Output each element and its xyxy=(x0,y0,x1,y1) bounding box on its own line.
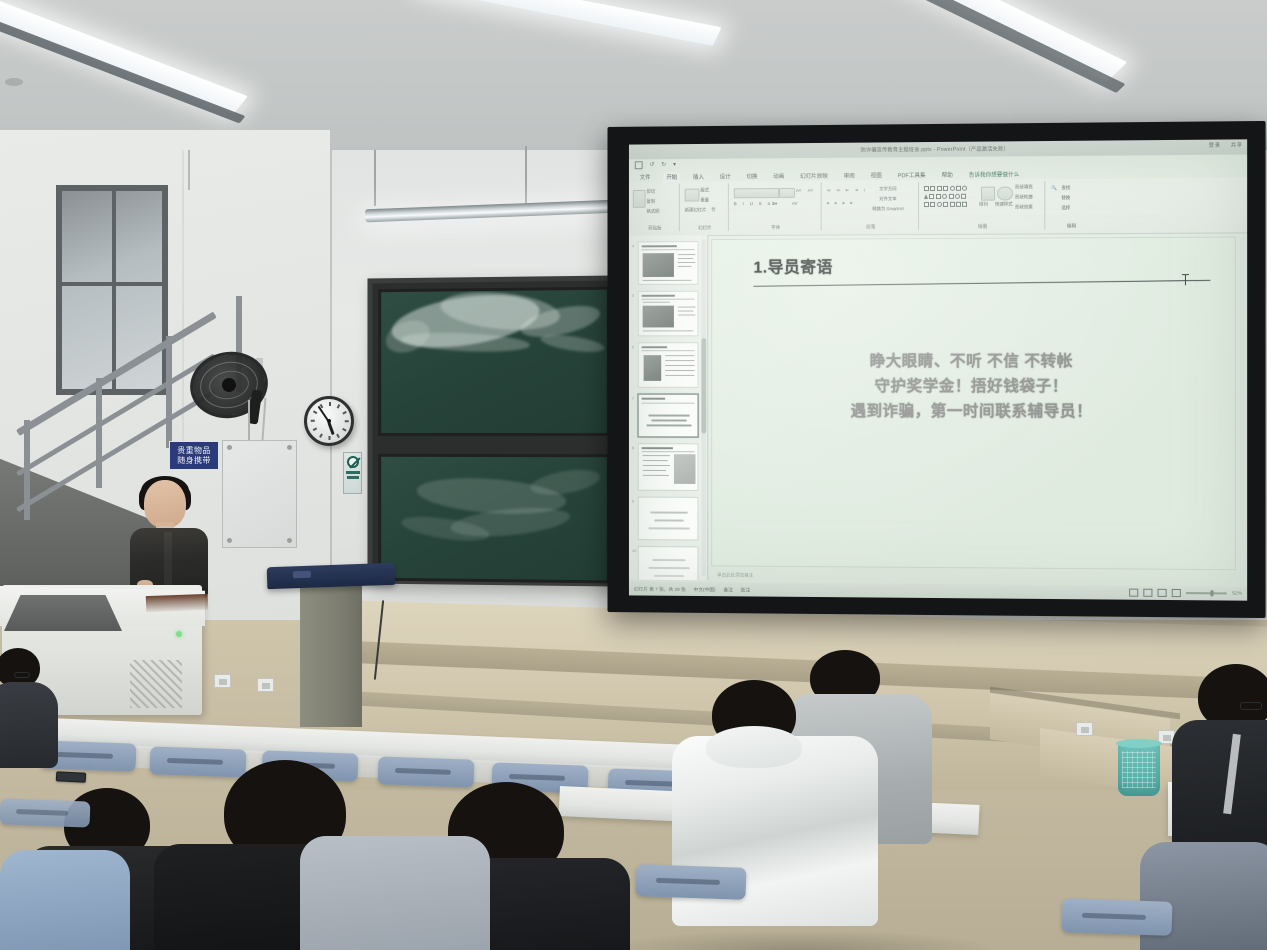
cut-label[interactable]: 剪切 xyxy=(647,189,656,195)
replace-text[interactable]: 替换 xyxy=(1061,195,1070,201)
notes-placeholder[interactable]: 单击此处添加备注 xyxy=(717,572,753,578)
no-smoking-sign xyxy=(343,452,362,494)
wall-outlet xyxy=(1076,722,1093,736)
wall-seam xyxy=(182,150,184,450)
thumbnail-number: 4 xyxy=(632,243,634,248)
undo-icon[interactable]: ↺ xyxy=(649,161,654,168)
valuables-sign: 贵重物品 随身携带 xyxy=(169,441,219,470)
tab-file[interactable]: 文件 xyxy=(637,172,654,182)
ribbon-group-drawing: 排列 快速样式 形状填充 形状轮廓 形状效果 绘图 xyxy=(921,181,1045,230)
customize-icon[interactable]: ▾ xyxy=(673,161,676,168)
slideshow-icon[interactable] xyxy=(1172,589,1181,597)
tab-view[interactable]: 视图 xyxy=(868,170,885,180)
new-slide-label[interactable]: 新建幻灯片 xyxy=(685,207,707,213)
wastebasket xyxy=(1118,742,1160,796)
thumbnail-number: 5 xyxy=(632,293,634,298)
railing-post xyxy=(166,336,172,448)
find-text[interactable]: 查找 xyxy=(1061,185,1070,191)
shape-gallery-row[interactable] xyxy=(924,186,967,191)
chalkboard-lower-panel xyxy=(378,454,610,584)
green-chalkboard xyxy=(367,276,614,587)
thumbnail-number: 7 xyxy=(632,396,634,401)
ribbon-group-label: 编辑 xyxy=(1047,223,1095,229)
slide-line-1: 睁大眼睛、不听 不信 不转帐 xyxy=(712,349,1235,374)
valuables-sign-line2: 随身携带 xyxy=(177,456,211,465)
format-painter-label[interactable]: 格式刷 xyxy=(647,209,660,215)
slide-canvas[interactable]: 1.导员寄语 睁大眼睛、不听 不信 不转帐 守护奖学金！捂好钱袋子！ 遇到诈骗，… xyxy=(711,237,1236,571)
thumbnail-number: 6 xyxy=(632,344,634,349)
tab-home[interactable]: 开始 xyxy=(663,172,680,182)
power-led-icon xyxy=(176,631,182,637)
ribbon-group-clipboard: 剪切 复制 格式刷 剪贴板 xyxy=(631,184,680,232)
jacket-hood xyxy=(706,726,802,768)
wall-outlet xyxy=(214,674,231,688)
student xyxy=(300,836,470,950)
list-item[interactable]: 4 xyxy=(638,241,699,285)
find-label[interactable]: 🔍 xyxy=(1051,185,1057,191)
pendant-rod xyxy=(374,150,376,206)
slide-thumbnail-panel[interactable]: 4 5 xyxy=(629,235,708,580)
font-color-icon[interactable]: A▾ xyxy=(772,201,777,207)
console-wood-trim xyxy=(146,594,209,612)
clock-hour-hand xyxy=(328,422,335,435)
ribbon-group-paragraph: ≔ ≕ ⇤ ⇥ ↕ 文字方向 对齐文本 转换为 SmartArt ≡ ≡ ≡ ≡… xyxy=(824,182,919,230)
tell-me-box[interactable]: 告诉我你想要做什么 xyxy=(966,169,1023,179)
tab-insert[interactable]: 插入 xyxy=(690,172,707,182)
valuables-sign-line1: 贵重物品 xyxy=(177,446,211,455)
slide-scrollbar-track[interactable] xyxy=(1240,236,1245,580)
projected-powerpoint[interactable]: 防诈骗宣传教育主题班会.pptx - PowerPoint（产品激活失败） 登录… xyxy=(629,139,1247,600)
ribbon-group-font: A˄ A˅ B I U S ab A▾ AV 字体 xyxy=(731,183,822,231)
align-text-label[interactable]: 对齐文本 xyxy=(879,196,896,202)
no-smoking-icon xyxy=(347,456,359,468)
chair-back xyxy=(1061,898,1172,936)
ribbon[interactable]: 剪切 复制 格式刷 剪贴板 版式 重置 新建幻灯片 节 幻灯片 xyxy=(629,178,1247,237)
list-item[interactable]: 5 xyxy=(638,291,699,337)
console-vent xyxy=(130,660,182,708)
eyeglasses-icon xyxy=(1240,702,1262,710)
tab-design[interactable]: 设计 xyxy=(717,171,734,181)
quick-styles-icon[interactable] xyxy=(997,186,1013,200)
fluorescent-tube-light xyxy=(418,0,721,46)
app-title-text: 防诈骗宣传教育主题班会.pptx - PowerPoint（产品激活失败） xyxy=(861,145,1009,153)
tab-help[interactable]: 帮助 xyxy=(939,170,956,180)
zoom-level[interactable]: 52% xyxy=(1232,591,1242,596)
new-slide-icon[interactable] xyxy=(685,189,700,202)
slide-counter: 幻灯片 第 7 张，共 29 张 xyxy=(634,585,686,592)
align-buttons[interactable]: ≡ ≡ ≡ ≡ xyxy=(827,200,855,205)
convert-smartart-label[interactable]: 转换为 SmartArt xyxy=(872,206,904,212)
tab-animations[interactable]: 动画 xyxy=(770,171,787,181)
classroom-photo-scene: 贵重物品 随身携带 xyxy=(0,0,1267,950)
thumbnail-number: 9 xyxy=(632,499,634,504)
list-item[interactable]: 8 xyxy=(638,443,699,491)
instructor xyxy=(130,480,208,595)
arrange-icon[interactable] xyxy=(981,187,995,201)
sign-in-label: 登录 xyxy=(1209,143,1221,149)
railing-post xyxy=(96,378,102,488)
student-jacket xyxy=(0,850,130,950)
char-spacing-icon[interactable]: AV xyxy=(792,201,797,206)
railing-post xyxy=(24,420,30,520)
student xyxy=(1180,664,1267,864)
electrical-panel xyxy=(222,440,297,548)
slide-body-text: 睁大眼睛、不听 不信 不转帐 守护奖学金！捂好钱袋子！ 遇到诈骗，第一时间联系辅… xyxy=(712,349,1235,425)
copy-label[interactable]: 复制 xyxy=(647,199,656,205)
window xyxy=(56,185,168,395)
fluorescent-tube-light xyxy=(0,0,248,114)
list-item[interactable]: 9 xyxy=(638,497,699,541)
normal-view-icon[interactable] xyxy=(1130,589,1139,597)
student xyxy=(0,850,120,950)
lectern-top xyxy=(267,563,396,589)
reading-view-icon[interactable] xyxy=(1158,589,1167,597)
slide-line-3: 遇到诈骗，第一时间联系辅导员！ xyxy=(712,399,1235,425)
shape-gallery-row[interactable] xyxy=(924,194,966,199)
section-label[interactable]: 节 xyxy=(711,207,715,213)
decrease-font-icon[interactable]: A˅ xyxy=(808,188,813,193)
slide-line-2: 守护奖学金！捂好钱袋子！ xyxy=(712,374,1235,399)
tab-transitions[interactable]: 切换 xyxy=(743,171,760,181)
wall-mounted-fan xyxy=(190,352,268,418)
font-style-buttons[interactable]: B I U S ab xyxy=(734,201,777,206)
ribbon-group-label: 绘图 xyxy=(921,223,1044,230)
slide-sorter-icon[interactable] xyxy=(1144,589,1153,597)
shape-effects-label[interactable]: 形状效果 xyxy=(1015,204,1033,210)
quick-styles-label[interactable]: 快速样式 xyxy=(995,201,1013,207)
thumbnail-number: 8 xyxy=(632,445,634,450)
font-name-box[interactable] xyxy=(734,188,779,198)
chair-back xyxy=(635,864,746,900)
text-cursor-icon xyxy=(1182,274,1189,285)
console-monitor-well xyxy=(4,595,122,631)
student xyxy=(0,648,62,768)
status-bar-right[interactable]: 52% xyxy=(1130,589,1243,598)
zoom-slider[interactable] xyxy=(1186,592,1227,594)
reset-label[interactable]: 重置 xyxy=(700,197,709,203)
ribbon-group-label: 幻灯片 xyxy=(682,225,728,231)
slide-divider xyxy=(753,280,1210,287)
powerpoint-title-bar: 防诈骗宣传教育主题班会.pptx - PowerPoint（产品激活失败） xyxy=(629,139,1247,159)
list-item[interactable]: 7 xyxy=(638,394,699,438)
paste-icon[interactable] xyxy=(633,190,646,208)
instructor-head xyxy=(144,480,186,528)
wall-clock xyxy=(304,396,354,446)
tab-pdf-tools[interactable]: PDF工具集 xyxy=(895,170,929,180)
shape-outline-label[interactable]: 形状轮廓 xyxy=(1015,194,1033,200)
font-size-box[interactable] xyxy=(779,188,795,198)
slide-heading: 1.导员寄语 xyxy=(753,253,832,277)
redo-icon[interactable]: ↻ xyxy=(661,161,666,168)
text-direction-label[interactable]: 文字方向 xyxy=(879,186,896,192)
quick-access-toolbar[interactable]: ↺ ↻ ▾ xyxy=(635,159,676,170)
student-jacket xyxy=(0,682,58,768)
account-area[interactable]: 登录 共享 xyxy=(1209,141,1243,148)
notes-toggle[interactable]: 备注 xyxy=(723,586,732,593)
comments-toggle[interactable]: 批注 xyxy=(741,586,750,593)
ribbon-group-label: 段落 xyxy=(824,224,918,230)
list-item[interactable]: 6 xyxy=(638,342,699,388)
chalkboard-upper-panel xyxy=(378,287,610,436)
shape-fill-label[interactable]: 形状填充 xyxy=(1015,184,1033,190)
tab-slideshow[interactable]: 幻灯片放映 xyxy=(797,171,831,181)
student-hoodie xyxy=(300,836,490,950)
wall-outlet xyxy=(257,678,274,692)
eyeglasses-icon xyxy=(14,672,30,678)
increase-font-icon[interactable]: A˄ xyxy=(796,188,801,193)
ribbon-group-editing: 🔍 查找 替换 选择 编辑 xyxy=(1047,181,1095,230)
shape-gallery-row[interactable] xyxy=(924,202,967,207)
tab-review[interactable]: 审阅 xyxy=(841,171,858,181)
list-item[interactable]: 10 xyxy=(638,546,699,580)
select-text[interactable]: 选择 xyxy=(1061,205,1070,211)
smoke-detector-icon xyxy=(5,78,23,86)
share-label: 共享 xyxy=(1231,142,1243,148)
arrange-label[interactable]: 排列 xyxy=(979,202,988,208)
thumbnail-number: 10 xyxy=(632,548,636,553)
language-indicator[interactable]: 中文(中国) xyxy=(694,586,716,593)
pendant-rod xyxy=(188,150,190,190)
thumbnail-scrollbar-thumb[interactable] xyxy=(701,338,706,433)
status-bar[interactable]: 幻灯片 第 7 张，共 29 张 中文(中国) 备注 批注 52% xyxy=(629,582,1247,601)
smartphone xyxy=(56,771,86,783)
lectern-column xyxy=(300,582,362,727)
layout-label[interactable]: 版式 xyxy=(700,188,709,194)
chair-back xyxy=(0,798,90,827)
save-icon[interactable] xyxy=(635,161,643,169)
projector-screen-frame: 防诈骗宣传教育主题班会.pptx - PowerPoint（产品激活失败） 登录… xyxy=(607,121,1265,618)
ribbon-group-label: 字体 xyxy=(731,225,821,231)
ribbon-group-label: 剪贴板 xyxy=(631,225,679,231)
fan-hub xyxy=(222,378,236,392)
list-buttons[interactable]: ≔ ≕ ⇤ ⇥ ↕ xyxy=(827,187,868,193)
ribbon-group-slides: 版式 重置 新建幻灯片 节 幻灯片 xyxy=(682,183,729,231)
pendant-rod xyxy=(525,146,527,204)
